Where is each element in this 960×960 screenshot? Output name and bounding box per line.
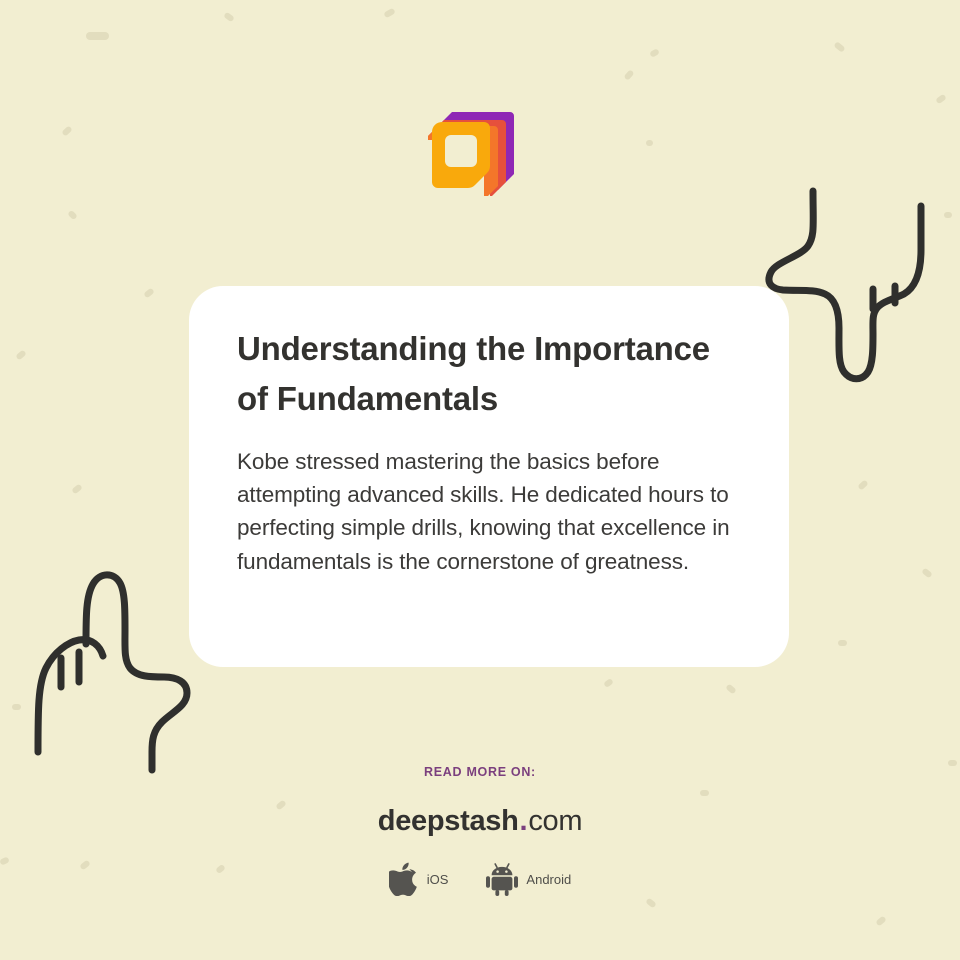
ios-label: iOS bbox=[427, 872, 449, 887]
confetti-dash bbox=[623, 69, 634, 80]
stacked-cards-icon bbox=[428, 104, 520, 196]
apple-icon bbox=[389, 862, 419, 896]
confetti-dash bbox=[61, 125, 72, 136]
confetti-dash bbox=[645, 898, 657, 909]
confetti-dash bbox=[875, 915, 887, 926]
card-body-text: Kobe stressed mastering the basics befor… bbox=[237, 445, 741, 578]
confetti-dash bbox=[921, 568, 933, 579]
confetti-dash bbox=[646, 140, 653, 146]
brand-wordmark[interactable]: deepstash.com bbox=[0, 805, 960, 838]
confetti-dash bbox=[15, 349, 27, 360]
confetti-dash bbox=[143, 288, 155, 299]
confetti-dash bbox=[857, 479, 868, 490]
pointing-hand-illustration-left bbox=[24, 560, 199, 783]
confetti-dash bbox=[71, 484, 83, 495]
android-label: Android bbox=[526, 872, 571, 887]
brand-dot: . bbox=[520, 805, 528, 837]
confetti-dash bbox=[86, 32, 109, 40]
read-more-label: READ MORE ON: bbox=[0, 765, 960, 779]
confetti-dash bbox=[12, 704, 21, 710]
ios-badge[interactable]: iOS bbox=[389, 862, 449, 896]
poster-canvas: Understanding the Importance of Fundamen… bbox=[0, 0, 960, 960]
content-card: Understanding the Importance of Fundamen… bbox=[189, 286, 789, 667]
android-badge[interactable]: Android bbox=[486, 862, 571, 896]
footer: READ MORE ON: deepstash.com iOS bbox=[0, 765, 960, 896]
app-store-badges: iOS And bbox=[0, 862, 960, 896]
brand-name: deepstash bbox=[378, 805, 519, 837]
confetti-dash bbox=[725, 683, 737, 694]
confetti-dash bbox=[838, 640, 847, 646]
confetti-dash bbox=[649, 48, 660, 58]
confetti-dash bbox=[603, 678, 614, 688]
confetti-dash bbox=[383, 8, 396, 19]
brand-tld: com bbox=[528, 805, 582, 837]
card-title: Understanding the Importance of Fundamen… bbox=[237, 324, 741, 423]
android-icon bbox=[486, 862, 518, 896]
confetti-dash bbox=[67, 210, 78, 221]
confetti-dash bbox=[223, 12, 235, 23]
confetti-dash bbox=[833, 41, 845, 53]
confetti-dash bbox=[935, 94, 947, 105]
hand-icon bbox=[24, 560, 199, 778]
deepstash-logo bbox=[428, 104, 520, 196]
